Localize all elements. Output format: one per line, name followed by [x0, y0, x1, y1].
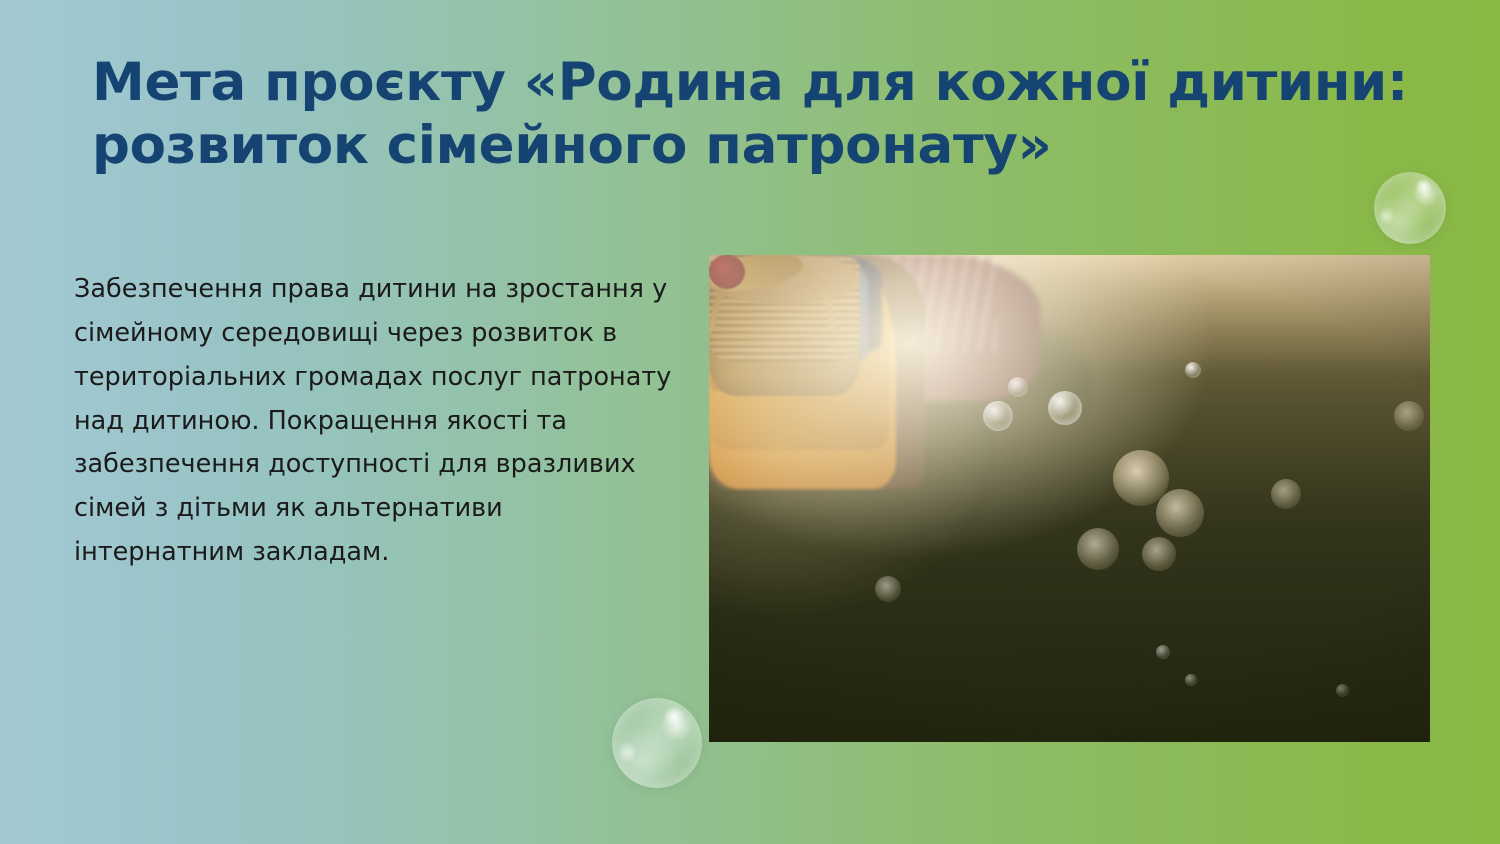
slide-title: Мета проєкту «Родина для кожної дитини: …	[92, 52, 1412, 177]
decorative-bubble-bottom-left	[612, 698, 702, 788]
decorative-bubble-top-right	[1374, 172, 1446, 244]
presentation-slide: Мета проєкту «Родина для кожної дитини: …	[0, 0, 1500, 844]
family-picnic-photo	[709, 255, 1430, 742]
slide-body-text: Забезпечення права дитини на зростання у…	[74, 268, 674, 575]
photo-color-grade	[709, 255, 1430, 742]
